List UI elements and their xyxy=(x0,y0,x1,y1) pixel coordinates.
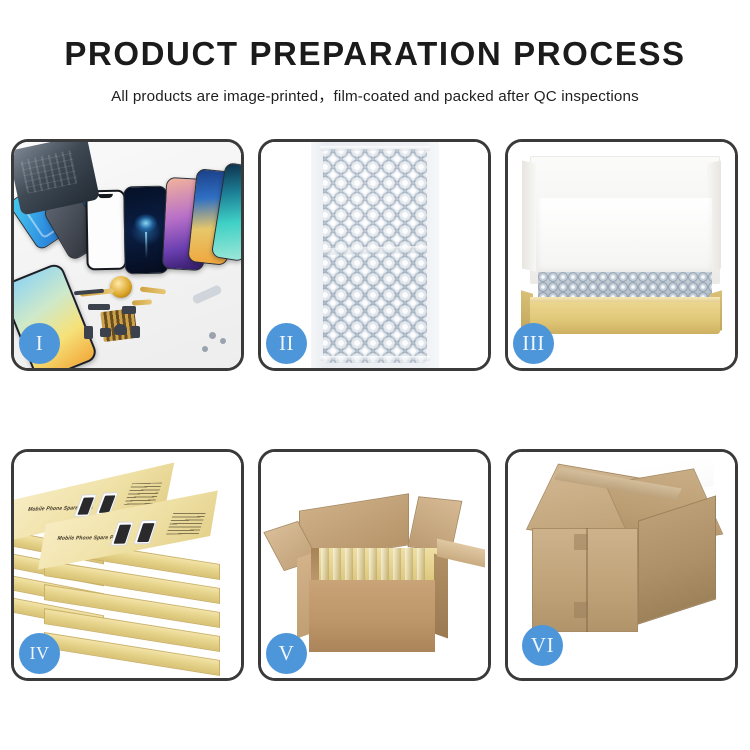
bubble-wrapped-item-icon xyxy=(323,149,427,363)
step-badge-4: IV xyxy=(19,633,60,674)
foam-sheet-icon xyxy=(538,198,712,274)
screw-icon xyxy=(202,346,208,352)
step-badge-1: I xyxy=(19,323,60,364)
speaker-coil-icon xyxy=(110,276,132,298)
carton-flap-tab-icon xyxy=(574,602,588,618)
flex-cable-icon xyxy=(140,286,166,294)
flex-cable-icon xyxy=(132,299,152,305)
carton-front-wall-icon xyxy=(309,580,435,652)
small-part-icon xyxy=(88,304,110,310)
tweezers-icon xyxy=(191,284,222,304)
small-part-icon xyxy=(122,306,136,314)
step-panel-6: VI xyxy=(505,449,738,681)
carton-right-wall-icon xyxy=(434,553,448,638)
small-part-icon xyxy=(131,326,140,338)
product-preparation-page: PRODUCT PREPARATION PROCESS All products… xyxy=(0,0,750,750)
wrap-seam-icon xyxy=(319,356,431,361)
step-panel-3: III xyxy=(505,139,738,371)
box-base-front-icon xyxy=(530,302,720,334)
step-badge-5: V xyxy=(266,633,307,674)
small-part-icon xyxy=(100,328,111,337)
page-title: PRODUCT PREPARATION PROCESS xyxy=(0,36,750,73)
step-badge-3: III xyxy=(513,323,554,364)
tempered-glass-icon xyxy=(85,190,126,271)
step-panel-1: I xyxy=(11,139,244,371)
step-badge-2: II xyxy=(266,323,307,364)
step-panel-4: Mobile Phone Spare Parts Mobile Phone Sp… xyxy=(11,449,244,681)
box-screen-graphic xyxy=(110,521,134,545)
box-spec-lines xyxy=(166,511,206,535)
header: PRODUCT PREPARATION PROCESS All products… xyxy=(0,36,750,106)
screw-icon xyxy=(209,332,216,339)
step-panel-2: II xyxy=(258,139,491,371)
screw-icon xyxy=(220,338,226,344)
step-panel-5: V xyxy=(258,449,491,681)
box-lid-left-flap-icon xyxy=(522,161,536,272)
step-badge-6: VI xyxy=(522,625,563,666)
box-screen-graphic xyxy=(133,520,157,544)
carton-flap-tab-icon xyxy=(574,534,588,550)
wrap-seam-icon xyxy=(319,146,431,151)
small-part-icon xyxy=(114,324,127,335)
small-part-icon xyxy=(84,326,93,339)
process-steps-grid: I II xyxy=(11,139,739,681)
page-subtitle: All products are image-printed，film-coat… xyxy=(0,84,750,106)
